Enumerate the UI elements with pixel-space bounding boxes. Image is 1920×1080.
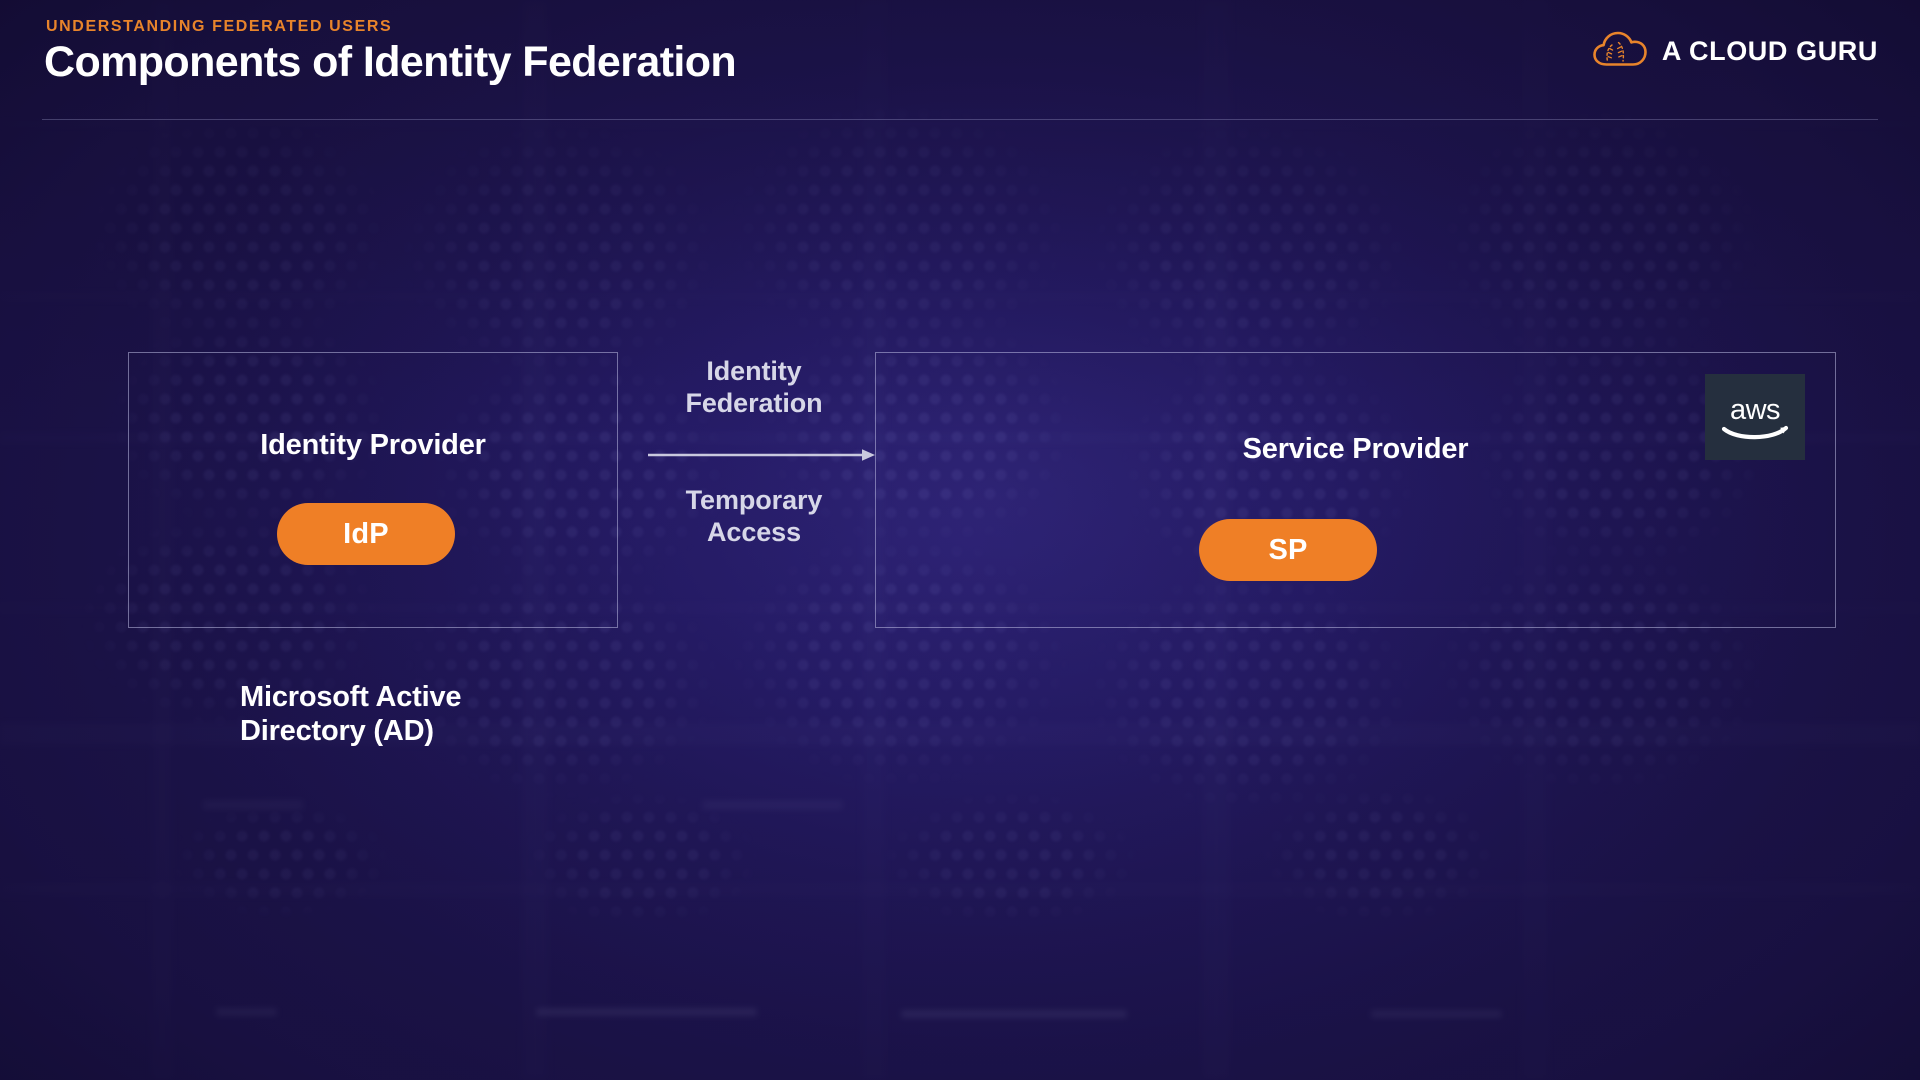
flow-label-top-line2: Federation [633,387,875,419]
arrow-right-icon [648,448,876,467]
flow-label-bottom: Temporary Access [633,484,875,549]
flow-label-bottom-line1: Temporary [633,484,875,516]
flow-label-bottom-line2: Access [633,516,875,548]
header-divider [42,119,1878,120]
identity-provider-panel: Identity Provider IdP [128,352,618,628]
caption-line-1: Microsoft Active [240,680,461,714]
page-title: Components of Identity Federation [44,40,736,85]
federation-flow: Identity Federation Temporary Access [633,355,875,549]
caption-line-2: Directory (AD) [240,714,461,748]
identity-provider-title: Identity Provider [129,429,617,462]
flow-label-top: Identity Federation [633,355,875,420]
aws-logo-icon: aws [1705,374,1805,460]
flow-arrow-area [633,420,875,484]
cloud-guru-cloud-icon [1592,30,1648,73]
service-provider-title: Service Provider [876,433,1835,466]
brand-name: A CLOUD GURU [1662,36,1878,67]
sp-badge: SP [1199,519,1377,581]
slide-header: UNDERSTANDING FEDERATED USERS Components… [44,18,736,85]
identity-provider-caption: Microsoft Active Directory (AD) [240,680,461,748]
slide-canvas: UNDERSTANDING FEDERATED USERS Components… [0,0,1920,1080]
brand-logo: A CLOUD GURU [1592,30,1878,73]
flow-label-top-line1: Identity [633,355,875,387]
slide-eyebrow: UNDERSTANDING FEDERATED USERS [46,18,736,36]
idp-badge: IdP [277,503,455,565]
service-provider-panel: Service Provider SP [875,352,1836,628]
svg-text:aws: aws [1730,394,1780,426]
